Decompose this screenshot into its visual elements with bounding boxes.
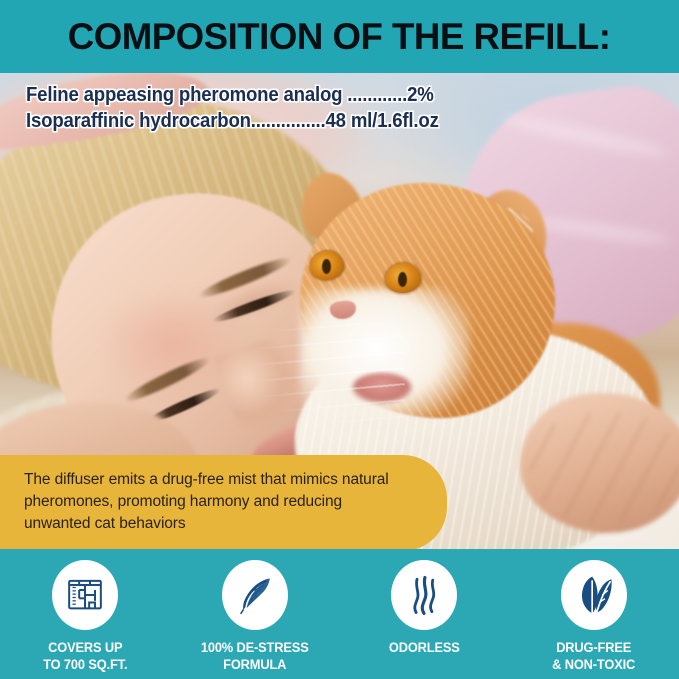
feature-label: DRUG-FREE & NON-TOXIC <box>553 639 636 674</box>
feature-coverage: COVERS UP TO 700 SQ.FT. <box>5 560 165 674</box>
feature-icon-circle <box>391 560 457 630</box>
feature-band: COVERS UP TO 700 SQ.FT. <box>0 549 679 679</box>
feature-label-line-1: COVERS UP <box>43 639 127 656</box>
composition-line-1: Feline appeasing pheromone analog ......… <box>26 82 439 108</box>
composition-list: Feline appeasing pheromone analog ......… <box>26 82 470 134</box>
leaves-icon <box>572 573 616 617</box>
feature-label-line-1: ODORLESS <box>389 639 460 656</box>
feature-icon-circle <box>52 560 118 630</box>
callout-text: The diffuser emits a drug-free mist that… <box>24 469 407 535</box>
feature-label: ODORLESS <box>389 639 460 656</box>
feature-label-line-1: DRUG-FREE <box>553 639 636 656</box>
floor-plan-icon <box>65 575 105 615</box>
feature-label-line-1: 100% DE-STRESS <box>201 639 309 656</box>
feature-icon-circle <box>561 560 627 630</box>
feature-label-line-2: TO 700 SQ.FT. <box>43 656 127 673</box>
feature-drug-free: DRUG-FREE & NON-TOXIC <box>514 560 674 674</box>
feature-label: 100% DE-STRESS FORMULA <box>201 639 309 674</box>
header-band: COMPOSITION OF THE REFILL: <box>0 0 679 73</box>
feature-label-line-2: & NON-TOXIC <box>553 656 636 673</box>
cat-pupil-left <box>322 259 331 274</box>
human-fingers <box>530 413 679 523</box>
page-title: COMPOSITION OF THE REFILL: <box>68 16 611 58</box>
callout-box: The diffuser emits a drug-free mist that… <box>0 455 447 551</box>
vapor-waves-icon <box>406 574 442 616</box>
feature-odorless: ODORLESS <box>344 560 504 656</box>
cat-pupil-right <box>398 272 407 287</box>
feather-icon <box>234 574 276 616</box>
composition-line-2: Isoparaffinic hydrocarbon...............… <box>26 108 439 134</box>
feature-label-line-2: FORMULA <box>201 656 309 673</box>
product-infographic: COMPOSITION OF THE REFILL: <box>0 0 679 679</box>
feature-destress: 100% DE-STRESS FORMULA <box>175 560 335 674</box>
feature-icon-circle <box>222 560 288 630</box>
feature-label: COVERS UP TO 700 SQ.FT. <box>43 639 127 674</box>
cat-whiskers <box>255 323 405 433</box>
